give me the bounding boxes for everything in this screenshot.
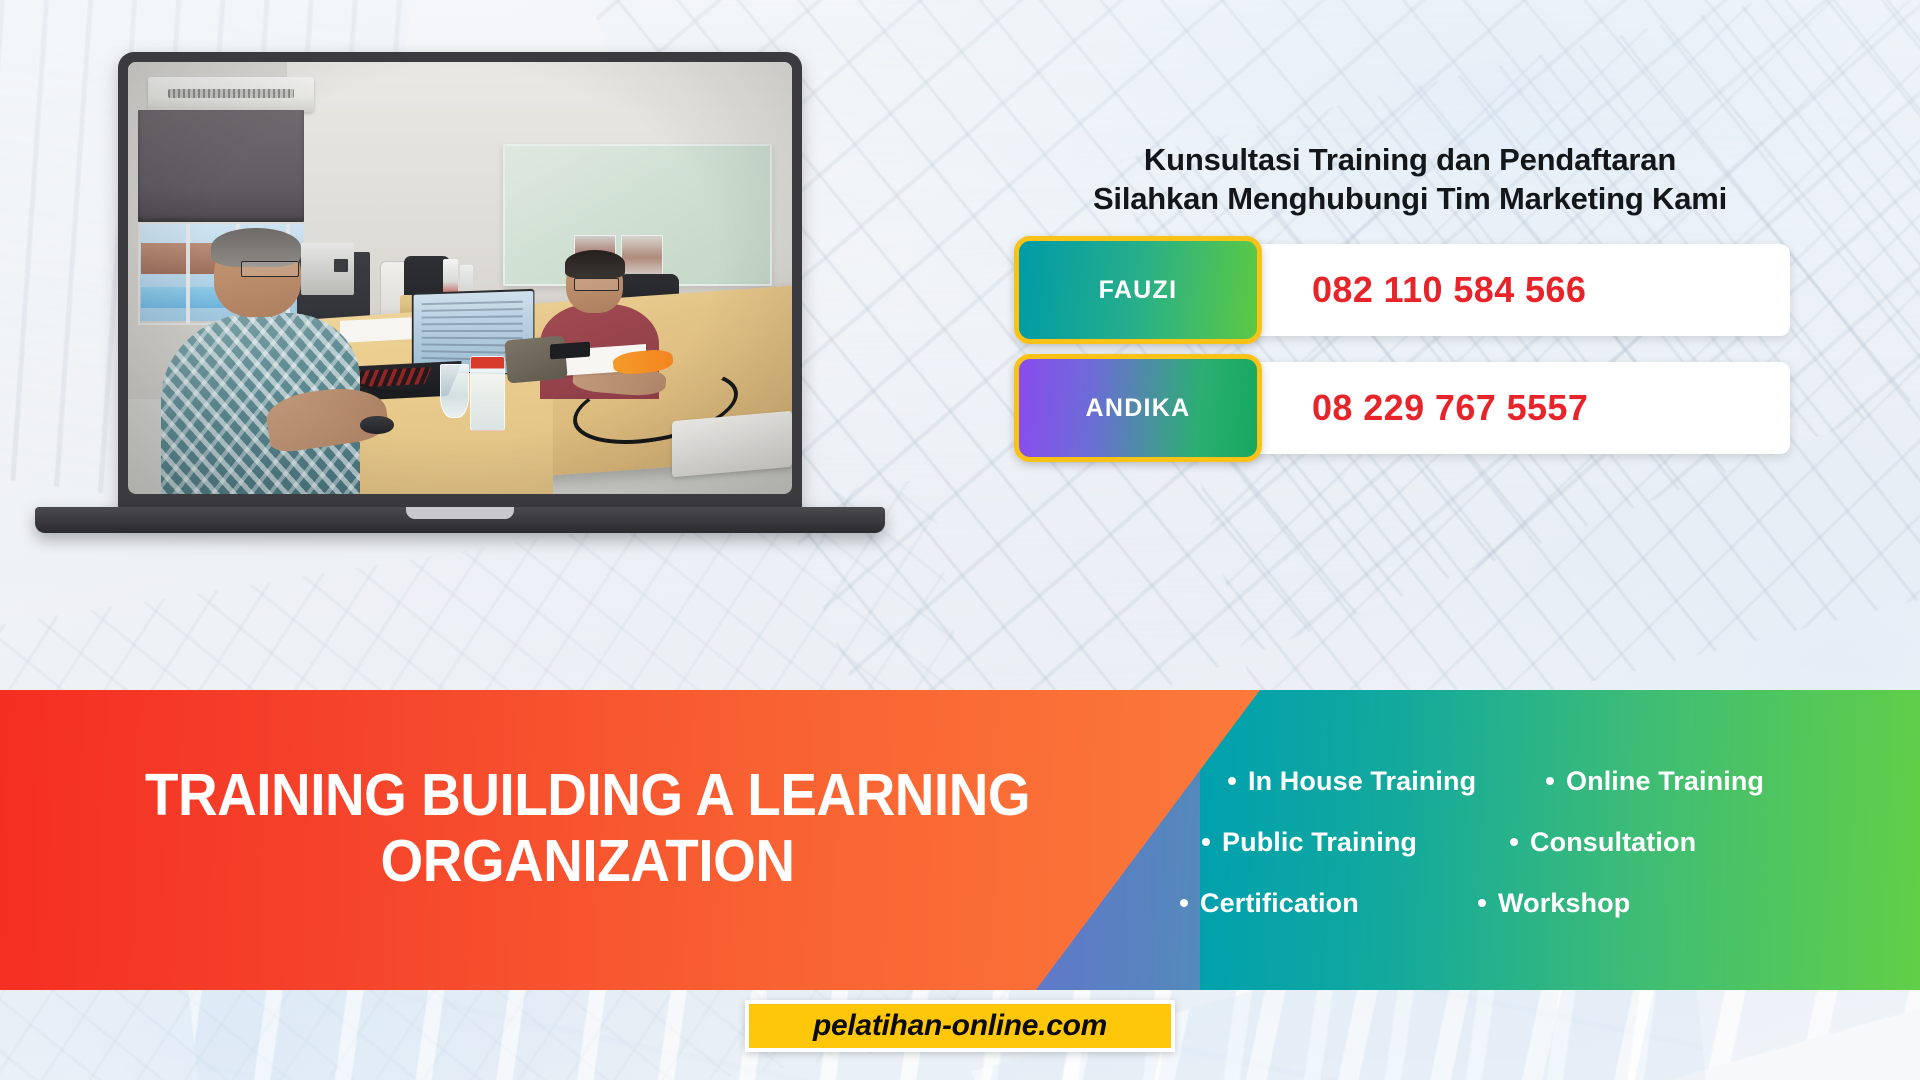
contact-section: Kunsultasi Training dan Pendaftaran Sila… [1030, 140, 1790, 454]
service-item-public-training[interactable]: Public Training [1202, 827, 1510, 858]
service-item-consultation[interactable]: Consultation [1510, 827, 1696, 858]
service-item-online-training[interactable]: Online Training [1546, 766, 1764, 797]
bottom-banner: TRAINING BUILDING A LEARNING ORGANIZATIO… [0, 690, 1920, 990]
service-label: Online Training [1566, 766, 1764, 797]
services-list: In House Training Online Training Public… [1180, 690, 1920, 990]
service-label: In House Training [1248, 766, 1476, 797]
laptop-mockup [35, 52, 885, 537]
website-url-text: pelatihan-online.com [813, 1009, 1107, 1043]
contact-name-fauzi: FAUZI [1099, 276, 1178, 305]
website-url-badge[interactable]: pelatihan-online.com [745, 1000, 1175, 1052]
contact-name-badge-fauzi: FAUZI [1014, 236, 1262, 344]
service-item-workshop[interactable]: Workshop [1478, 888, 1630, 919]
service-label: Workshop [1498, 888, 1630, 919]
bullet-dot-icon [1228, 777, 1236, 785]
contact-card-fauzi[interactable]: FAUZI 082 110 584 566 [1030, 244, 1790, 336]
contact-name-badge-andika: ANDIKA [1014, 354, 1262, 462]
bullet-dot-icon [1510, 838, 1518, 846]
bullet-dot-icon [1202, 838, 1210, 846]
service-label: Consultation [1530, 827, 1696, 858]
contact-phone-fauzi[interactable]: 082 110 584 566 [1312, 269, 1586, 311]
laptop-lid [118, 52, 802, 514]
contact-heading-line-2: Silahkan Menghubungi Tim Marketing Kami [1030, 179, 1790, 218]
bullet-dot-icon [1180, 899, 1188, 907]
training-session-photo [128, 62, 792, 494]
contact-phone-andika[interactable]: 08 229 767 5557 [1312, 387, 1588, 429]
laptop-screen-bezel [128, 62, 792, 494]
bullet-dot-icon [1478, 899, 1486, 907]
service-item-in-house-training[interactable]: In House Training [1228, 766, 1546, 797]
services-row-1: In House Training Online Training [1180, 766, 1920, 797]
service-label: Public Training [1222, 827, 1417, 858]
services-row-2: Public Training Consultation [1180, 827, 1920, 858]
photo-vignette [128, 62, 792, 494]
contact-card-andika[interactable]: ANDIKA 08 229 767 5557 [1030, 362, 1790, 454]
contact-heading-line-1: Kunsultasi Training dan Pendaftaran [1144, 142, 1676, 177]
contact-name-andika: ANDIKA [1085, 394, 1190, 423]
bullet-dot-icon [1546, 777, 1554, 785]
services-row-3: Certification Workshop [1180, 888, 1920, 919]
contact-heading: Kunsultasi Training dan Pendaftaran Sila… [1030, 140, 1790, 218]
service-label: Certification [1200, 888, 1359, 919]
training-title: TRAINING BUILDING A LEARNING ORGANIZATIO… [97, 762, 1078, 894]
service-item-certification[interactable]: Certification [1180, 888, 1478, 919]
laptop-base-notch [406, 507, 514, 519]
